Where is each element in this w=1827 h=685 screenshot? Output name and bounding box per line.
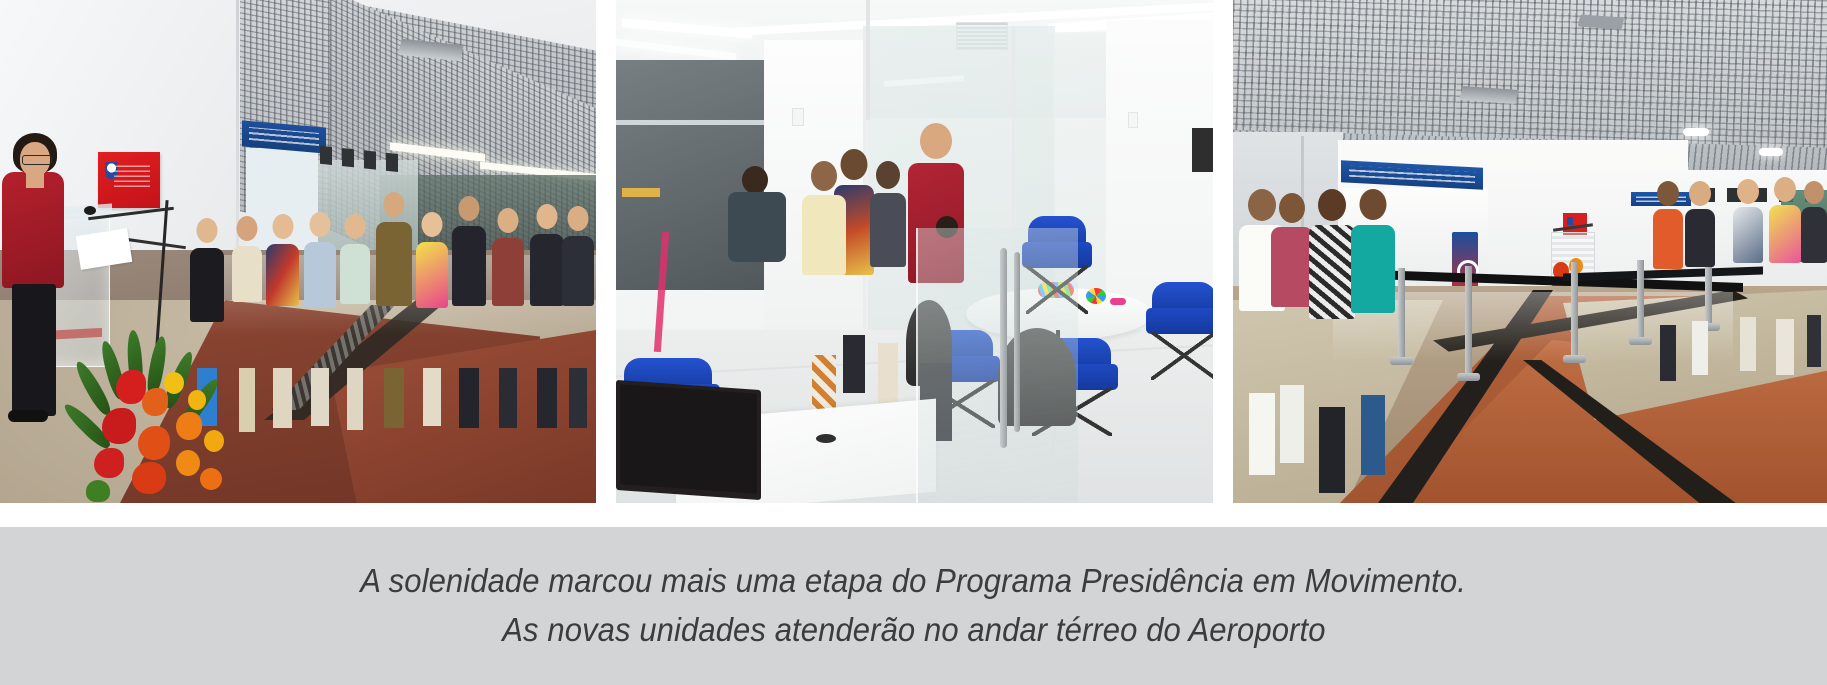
audience-person xyxy=(562,236,594,368)
door-handle[interactable] xyxy=(1000,248,1007,448)
microphone-head xyxy=(84,206,96,215)
door-handle[interactable] xyxy=(1014,252,1020,432)
audience-person xyxy=(416,242,448,368)
visitor-person xyxy=(802,195,846,355)
photo-strip xyxy=(0,0,1827,503)
queue-stanchion xyxy=(1398,268,1405,360)
photo-new-service-unit[interactable] xyxy=(616,0,1213,503)
photo-2-scene xyxy=(616,0,1213,503)
audience-person xyxy=(304,242,336,368)
caption-line-2: As novas unidades atenderão no andar tér… xyxy=(502,611,1325,650)
ceiling-downlight xyxy=(1683,128,1709,136)
glass-door[interactable] xyxy=(916,228,1078,503)
reflected-person-body xyxy=(728,192,786,262)
visitor-person xyxy=(1801,207,1827,315)
speaker-body xyxy=(2,172,64,288)
caption-line-1: A solenidade marcou mais uma etapa do Pr… xyxy=(361,562,1467,601)
pink-object xyxy=(1110,298,1126,305)
visitor-person xyxy=(1685,209,1715,321)
audience-person xyxy=(340,244,370,368)
wall-frame xyxy=(1192,128,1213,172)
desk-cable-grommet xyxy=(816,434,836,443)
speaker-glasses xyxy=(22,155,52,165)
audience-person xyxy=(266,244,299,368)
visitor-person xyxy=(870,193,906,343)
monitor-screen xyxy=(620,384,757,494)
ceiling-downlight xyxy=(1759,148,1783,156)
visitor-person xyxy=(1653,209,1683,325)
audience-person xyxy=(376,222,412,368)
queue-stanchion xyxy=(1571,262,1578,358)
audience-person xyxy=(492,238,524,368)
speaker-shoes xyxy=(8,410,48,422)
visitor-person xyxy=(1271,227,1313,385)
photo-airport-hall[interactable] xyxy=(1233,0,1827,503)
visitor-person xyxy=(1309,225,1355,407)
visitor-person xyxy=(1733,207,1763,317)
yellow-light-reflection xyxy=(622,188,660,197)
photo-3-scene xyxy=(1233,0,1827,503)
ceiling-frame xyxy=(866,0,870,120)
blue-chair xyxy=(1146,282,1213,392)
speaker-legs xyxy=(12,284,56,416)
window-frame xyxy=(616,120,764,125)
queue-stanchion xyxy=(1637,260,1644,340)
caption-text: A solenidade marcou mais uma etapa do Pr… xyxy=(0,527,1827,685)
reflected-person-head xyxy=(742,166,768,194)
flag-text xyxy=(114,165,150,187)
light-switch[interactable] xyxy=(792,108,804,126)
visitor-person xyxy=(1351,225,1395,395)
flower-arrangement xyxy=(80,330,250,503)
photo-ceremony-podium[interactable] xyxy=(0,0,596,503)
photo-1-scene xyxy=(0,0,596,503)
visitor-person xyxy=(1769,205,1801,319)
collage-page: A solenidade marcou mais uma etapa do Pr… xyxy=(0,0,1827,685)
audience-person xyxy=(452,226,486,368)
audience-person xyxy=(530,234,564,368)
queue-stanchion xyxy=(1465,266,1472,376)
light-switch[interactable] xyxy=(1128,112,1138,128)
caption-bar: A solenidade marcou mais uma etapa do Pr… xyxy=(0,527,1827,685)
